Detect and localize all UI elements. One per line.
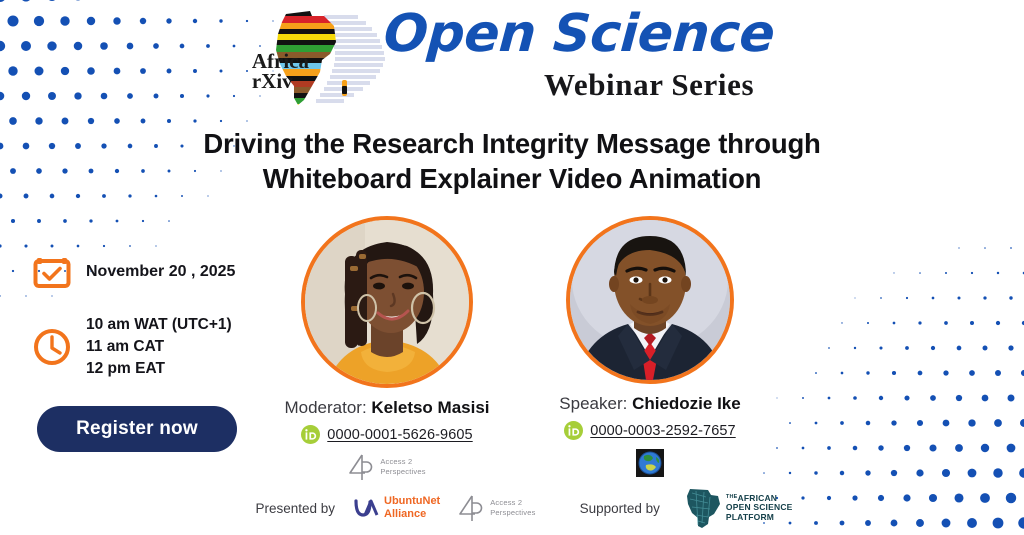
aosp-line-3: PLATFORM (726, 513, 793, 523)
open-science-title: Open Science (382, 8, 776, 60)
event-time-row: 10 am WAT (UTC+1) 11 am CAT 12 pm EAT (32, 314, 282, 380)
african-open-science-platform-logo: THEAFRICAN OPEN SCIENCE PLATFORM (678, 487, 793, 529)
presented-by-label: Presented by (255, 501, 335, 516)
webinar-poster: Africa rXiv Open Science Webinar Series … (0, 0, 1024, 535)
orcid-id-icon (301, 425, 320, 444)
speaker-name: Speaker: Chiedozie Ike (510, 394, 790, 414)
footer-a2p-text: Access 2 Perspectives (490, 498, 535, 518)
speaker-avatar (566, 216, 734, 384)
africa-map-icon (678, 487, 724, 529)
africarxiv-logo-icon: Africa rXiv (250, 6, 390, 110)
person-card-moderator: Moderator: Keletso Masisi 0000-0001-5626… (247, 216, 527, 481)
speaker-name-value: Chiedozie Ike (632, 394, 741, 413)
aosp-the: THE (726, 494, 738, 500)
speaker-orcid-id[interactable]: 0000-0003-2592-7657 (590, 423, 735, 439)
ubuntunet-line-2: Alliance (384, 508, 440, 521)
a2p-line-1: Access 2 (380, 457, 425, 467)
footer-a2p-line-1: Access 2 (490, 498, 535, 508)
access-2-perspectives-logo: Access 2 Perspectives (348, 453, 425, 481)
speaker-role-label: Speaker: (559, 394, 627, 413)
event-time-1: 10 am WAT (UTC+1) (86, 314, 232, 336)
event-date-row: November 20 , 2025 (32, 252, 282, 292)
webinar-series-subtitle: Webinar Series (384, 67, 774, 103)
moderator-avatar (301, 216, 473, 388)
moderator-orcid-id[interactable]: 0000-0001-5626-9605 (327, 427, 472, 443)
moderator-role-label: Moderator: (284, 398, 366, 417)
aosp-line-1: AFRICAN (738, 493, 778, 503)
orcid-id-icon (564, 421, 583, 440)
aosp-text: THEAFRICAN OPEN SCIENCE PLATFORM (726, 494, 793, 523)
speaker-orcid-row[interactable]: 0000-0003-2592-7657 (510, 421, 790, 440)
africarxiv-wordmark: Africa rXiv (252, 52, 309, 91)
clock-icon (32, 327, 72, 367)
ubuntunet-line-1: UbuntuNet (384, 495, 440, 508)
header-logo: Africa rXiv Open Science Webinar Series (0, 6, 1024, 116)
title-line-2: Whiteboard Explainer Video Animation (120, 161, 904, 196)
supported-by-label: Supported by (580, 501, 660, 516)
ubuntunet-mark-icon (353, 497, 379, 519)
a2p-mark-icon (348, 453, 374, 481)
a2p-line-2: Perspectives (380, 467, 425, 477)
a2p-text: Access 2 Perspectives (380, 457, 425, 477)
event-date: November 20 , 2025 (86, 263, 235, 281)
moderator-affiliation: Access 2 Perspectives (247, 453, 527, 481)
footer-access-2-perspectives-logo: Access 2 Perspectives (458, 494, 535, 522)
event-time-2: 11 am CAT (86, 336, 232, 358)
ubuntunet-text: UbuntuNet Alliance (384, 495, 440, 520)
event-details: November 20 , 2025 10 am WAT (UTC+1) 11 … (32, 252, 282, 380)
title-line-1: Driving the Research Integrity Message t… (120, 126, 904, 161)
moderator-orcid-row[interactable]: 0000-0001-5626-9605 (247, 425, 527, 444)
person-card-speaker: Speaker: Chiedozie Ike 0000-0003-2592-76… (510, 216, 790, 482)
page-title: Driving the Research Integrity Message t… (120, 126, 904, 196)
ubuntunet-alliance-logo: UbuntuNet Alliance (353, 495, 440, 520)
a2p-mark-icon (458, 494, 484, 522)
footer-sponsors: Presented by UbuntuNet Alliance Access 2… (0, 487, 1024, 529)
footer-a2p-line-2: Perspectives (490, 508, 535, 518)
moderator-name-value: Keletso Masisi (371, 398, 489, 417)
speaker-affiliation (510, 449, 790, 482)
register-now-button[interactable]: Register now (37, 406, 237, 452)
moderator-name: Moderator: Keletso Masisi (247, 398, 527, 418)
event-times: 10 am WAT (UTC+1) 11 am CAT 12 pm EAT (86, 314, 232, 380)
africarxiv-line-2: rXiv (252, 72, 309, 92)
calendar-check-icon (32, 252, 72, 292)
globe-icon (636, 449, 664, 482)
event-time-3: 12 pm EAT (86, 358, 232, 380)
